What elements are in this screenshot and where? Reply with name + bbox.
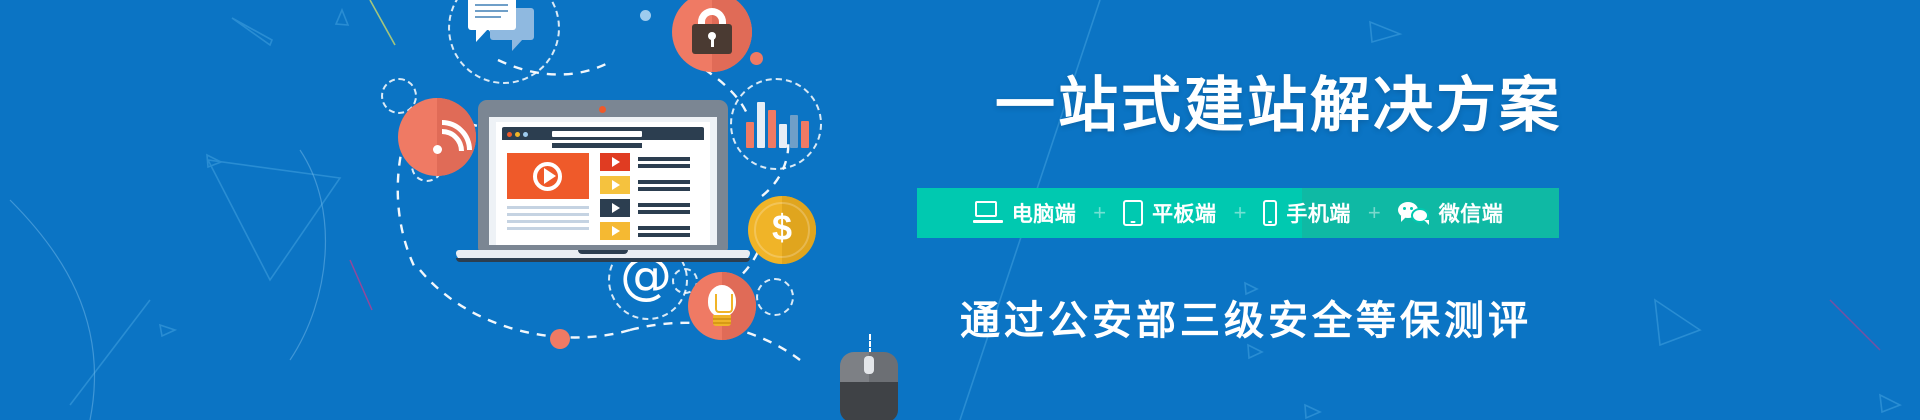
badge-label-phone: 手机端 [1286, 198, 1351, 228]
badge-label-wechat: 微信端 [1439, 198, 1504, 228]
banner-copy: 一站式建站解决方案 电脑端 + 平板端 + 手机端 [920, 0, 1920, 420]
website-building-illustration: $ @ [0, 0, 920, 420]
lightbulb-icon [688, 272, 756, 340]
dollar-coin-icon: $ [748, 196, 816, 264]
decor-dot-3 [640, 10, 651, 21]
plus-separator: + [1089, 200, 1110, 226]
badge-item-phone[interactable]: 手机端 [1250, 198, 1364, 228]
plus-separator: + [1364, 200, 1385, 226]
bar-chart-icon [746, 92, 804, 148]
mouse-icon [840, 352, 898, 420]
badge-label-tablet: 平板端 [1152, 198, 1217, 228]
desktop-icon [973, 201, 1003, 225]
decor-dot-2 [550, 329, 570, 349]
badge-item-wechat[interactable]: 微信端 [1385, 198, 1517, 228]
subline: 通过公安部三级安全等保测评 [920, 288, 1920, 346]
lock-icon [672, 0, 752, 72]
platform-badge: 电脑端 + 平板端 + 手机端 + [917, 188, 1559, 238]
headline: 一站式建站解决方案 [920, 57, 1920, 144]
wifi-icon [398, 98, 476, 176]
promo-banner: $ @ [0, 0, 1920, 420]
tablet-icon [1123, 200, 1143, 226]
badge-item-tablet[interactable]: 平板端 [1110, 198, 1230, 228]
wechat-icon [1398, 201, 1430, 225]
dashed-ring-small-4 [756, 278, 794, 316]
badge-item-desktop[interactable]: 电脑端 [960, 198, 1090, 228]
laptop-icon [478, 100, 728, 265]
badge-label-desktop: 电脑端 [1012, 198, 1077, 228]
phone-icon [1263, 200, 1277, 226]
chat-bubble-icon [468, 0, 540, 58]
plus-separator: + [1230, 200, 1251, 226]
